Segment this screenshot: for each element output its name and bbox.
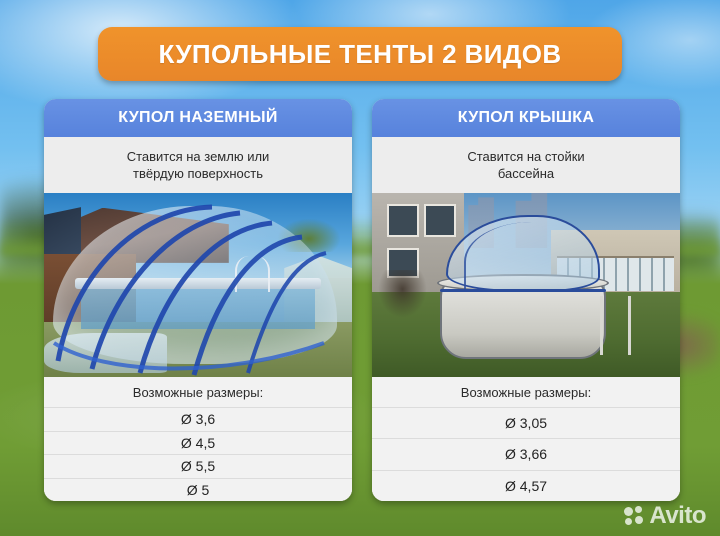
photo-hanging-chair bbox=[378, 270, 427, 318]
sizes-title: Возможные размеры: bbox=[44, 377, 352, 407]
photo-window bbox=[387, 204, 419, 237]
photo-dome-ribs bbox=[44, 193, 352, 377]
card-description-line-1: Ставится на стойки bbox=[467, 149, 584, 164]
size-row: Ø 5 bbox=[44, 478, 352, 502]
size-row: Ø 3,05 bbox=[372, 407, 680, 438]
size-row: Ø 3,66 bbox=[372, 438, 680, 469]
sizes-table-ground-dome: Возможные размеры: Ø 3,6 Ø 4,5 Ø 5,5 Ø 5 bbox=[44, 377, 352, 501]
size-row: Ø 3,6 bbox=[44, 407, 352, 431]
photo-dome-strap bbox=[440, 289, 606, 292]
card-description-line-1: Ставится на землю или bbox=[127, 149, 270, 164]
page-title: КУПОЛЬНЫЕ ТЕНТЫ 2 ВИДОВ bbox=[158, 39, 561, 70]
card-title: КУПОЛ КРЫШКА bbox=[458, 109, 594, 127]
card-photo-ground-dome bbox=[44, 193, 352, 377]
photo-ground-dome-scene bbox=[44, 193, 352, 377]
photo-lid-dome-scene bbox=[372, 193, 680, 377]
card-description-line-2: твёрдую поверхность bbox=[133, 166, 263, 181]
ad-image-canvas: КУПОЛЬНЫЕ ТЕНТЫ 2 ВИДОВ КУПОЛ НАЗЕМНЫЙ С… bbox=[0, 0, 720, 536]
card-description-ground-dome: Ставится на землю или твёрдую поверхност… bbox=[44, 137, 352, 193]
card-header-lid-dome: КУПОЛ КРЫШКА bbox=[372, 99, 680, 137]
size-row: Ø 5,5 bbox=[44, 454, 352, 478]
size-row: Ø 4,5 bbox=[44, 431, 352, 455]
card-photo-lid-dome bbox=[372, 193, 680, 377]
card-header-ground-dome: КУПОЛ НАЗЕМНЫЙ bbox=[44, 99, 352, 137]
size-row: Ø 4,57 bbox=[372, 470, 680, 501]
card-description-line-2: бассейна bbox=[498, 166, 554, 181]
avito-wordmark: Avito bbox=[649, 504, 706, 528]
card-lid-dome[interactable]: КУПОЛ КРЫШКА Ставится на стойки бассейна bbox=[372, 99, 680, 501]
card-description-lid-dome: Ставится на стойки бассейна bbox=[372, 137, 680, 193]
product-cards-row: КУПОЛ НАЗЕМНЫЙ Ставится на землю или твё… bbox=[44, 99, 680, 501]
photo-pool-ladder bbox=[600, 296, 631, 355]
avito-logo-icon bbox=[624, 506, 644, 526]
card-title: КУПОЛ НАЗЕМНЫЙ bbox=[118, 109, 277, 127]
avito-watermark: Avito bbox=[624, 504, 706, 528]
sizes-table-lid-dome: Возможные размеры: Ø 3,05 Ø 3,66 Ø 4,57 bbox=[372, 377, 680, 501]
photo-window bbox=[424, 204, 456, 237]
title-banner: КУПОЛЬНЫЕ ТЕНТЫ 2 ВИДОВ bbox=[98, 27, 622, 81]
card-ground-dome[interactable]: КУПОЛ НАЗЕМНЫЙ Ставится на землю или твё… bbox=[44, 99, 352, 501]
sizes-title: Возможные размеры: bbox=[372, 377, 680, 407]
